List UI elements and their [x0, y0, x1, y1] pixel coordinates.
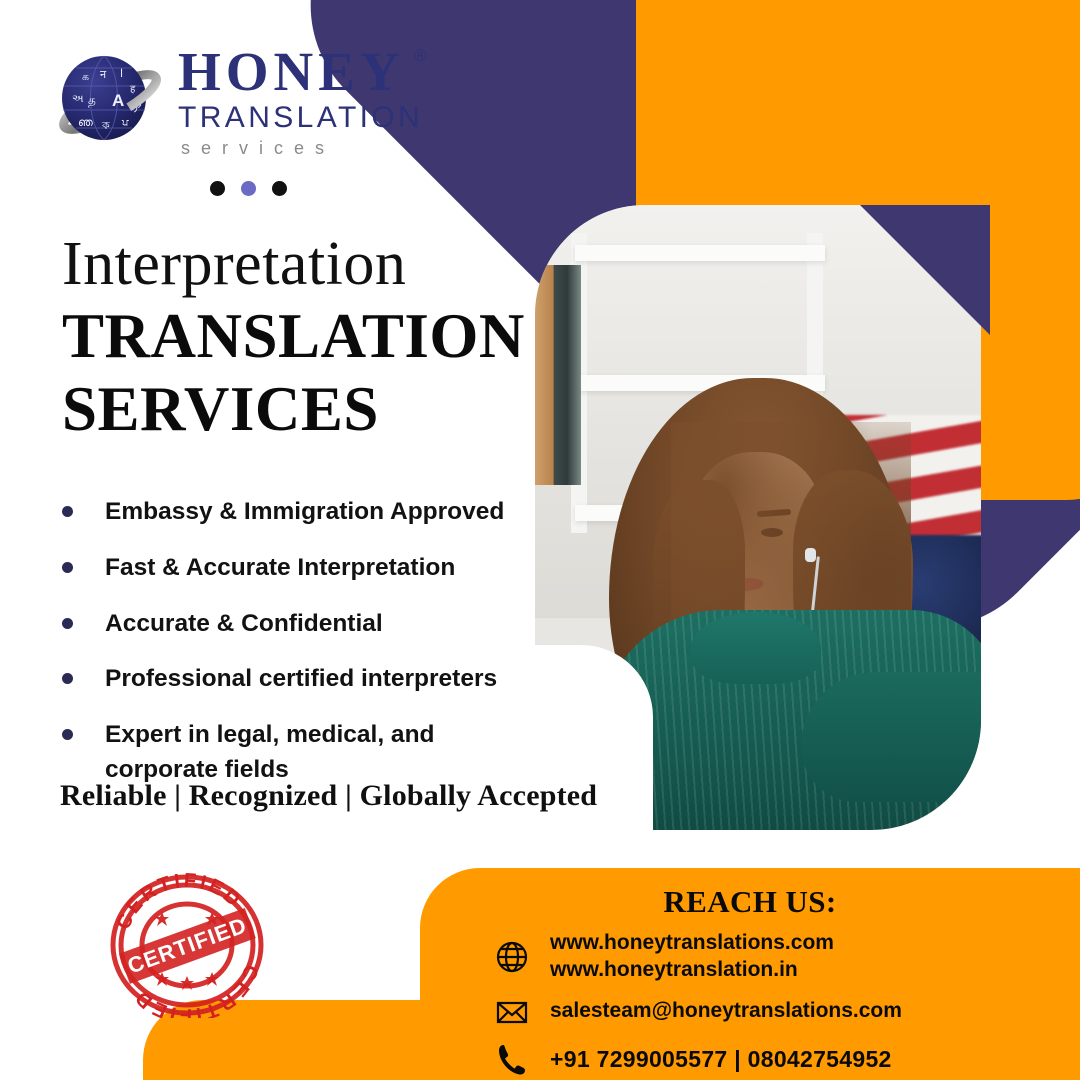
certified-stamp-icon: CERTIFIED CERTIFIED CERTIFIED: [106, 872, 268, 1018]
globe-logo-icon: க न ا અ த A ह ア ഞ ক ਪ: [52, 46, 164, 158]
contact-row-phone[interactable]: +91 7299005577 | 08042754952: [492, 1040, 1080, 1080]
website-primary: www.honeytranslations.com: [550, 931, 834, 954]
dot-3: [272, 181, 287, 196]
photo-arm: [801, 672, 981, 802]
contact-row-email[interactable]: salesteam@honeytranslations.com: [492, 992, 1080, 1032]
dot-1: [210, 181, 225, 196]
stamp-banner: CERTIFIED: [119, 908, 256, 984]
list-item: Professional certified interpreters: [56, 662, 526, 697]
bullet-dot-icon: [62, 673, 73, 684]
decorative-dots: [210, 181, 423, 196]
envelope-icon: [492, 992, 532, 1032]
bullet-dot-icon: [62, 506, 73, 517]
list-item: Expert in legal, medical, and corporate …: [56, 718, 526, 788]
svg-text:न: न: [100, 69, 107, 81]
tagline: Reliable | Recognized | Globally Accepte…: [60, 779, 597, 813]
logo-wordmark: HONEY® TRANSLATION services: [178, 44, 423, 161]
contact-rows: www.honeytranslations.com www.honeytrans…: [420, 930, 1080, 1080]
list-item: Accurate & Confidential: [56, 607, 526, 642]
svg-text:ਪ: ਪ: [121, 118, 129, 129]
photo-corner-cut: [860, 205, 990, 335]
registered-trademark-icon: ®: [414, 48, 427, 64]
headline-block: Interpretation TRANSLATION SERVICES: [62, 232, 525, 443]
globe-logo-svg: க न ا અ த A ह ア ഞ ক ਪ: [52, 46, 164, 158]
globe-icon: [492, 937, 532, 977]
phone-icon: [492, 1040, 532, 1080]
photo-books: [535, 265, 581, 485]
brand-logo[interactable]: க न ا અ த A ह ア ഞ ক ਪ: [52, 44, 423, 196]
list-item-label: Embassy & Immigration Approved: [105, 495, 504, 530]
svg-text:ا: ا: [120, 68, 123, 80]
contact-block: REACH US: www.honeytranslat: [420, 868, 1080, 1080]
poster-canvas: க न ا અ த A ह ア ഞ ক ਪ: [0, 0, 1080, 1080]
list-item-label: Accurate & Confidential: [105, 607, 383, 642]
list-item-label: Professional certified interpreters: [105, 662, 497, 697]
logo-name-primary: HONEY®: [178, 46, 405, 99]
list-item-label: Expert in legal, medical, and corporate …: [105, 718, 526, 788]
photo-shelf: [575, 245, 825, 261]
svg-text:ഞ: ഞ: [78, 117, 93, 129]
headline-bold-line-1: TRANSLATION: [62, 303, 525, 370]
certified-stamp-svg: CERTIFIED CERTIFIED CERTIFIED: [106, 872, 268, 1018]
svg-text:க: க: [82, 71, 89, 83]
photo-earphone-bud: [805, 548, 816, 562]
photo-collar: [691, 612, 821, 684]
list-item-label: Fast & Accurate Interpretation: [105, 551, 455, 586]
svg-text:த: த: [88, 93, 96, 107]
bullet-dot-icon: [62, 562, 73, 573]
list-item: Embassy & Immigration Approved: [56, 495, 526, 530]
bullet-dot-icon: [62, 618, 73, 629]
website-text: www.honeytranslations.com www.honeytrans…: [550, 930, 834, 984]
headline-bold-line-2: SERVICES: [62, 376, 525, 443]
bullet-dot-icon: [62, 729, 73, 740]
logo-row: க न ا અ த A ह ア ഞ ক ਪ: [52, 44, 423, 161]
list-item: Fast & Accurate Interpretation: [56, 551, 526, 586]
dot-2: [241, 181, 256, 196]
contact-heading: REACH US:: [420, 868, 1080, 920]
contact-row-website[interactable]: www.honeytranslations.com www.honeytrans…: [492, 930, 1080, 984]
svg-text:ह: ह: [130, 84, 136, 95]
website-secondary: www.honeytranslation.in: [550, 957, 834, 984]
svg-text:A: A: [112, 91, 124, 110]
svg-text:ক: ক: [101, 120, 110, 132]
svg-text:અ: અ: [72, 93, 84, 105]
headline-script: Interpretation: [62, 232, 525, 297]
email-text: salesteam@honeytranslations.com: [550, 998, 902, 1025]
logo-name-primary-text: HONEY: [178, 41, 405, 102]
logo-name-secondary: TRANSLATION: [178, 99, 423, 137]
feature-list: Embassy & Immigration Approved Fast & Ac…: [56, 495, 526, 809]
logo-name-tertiary: services: [178, 136, 423, 160]
phone-text: +91 7299005577 | 08042754952: [550, 1045, 892, 1074]
